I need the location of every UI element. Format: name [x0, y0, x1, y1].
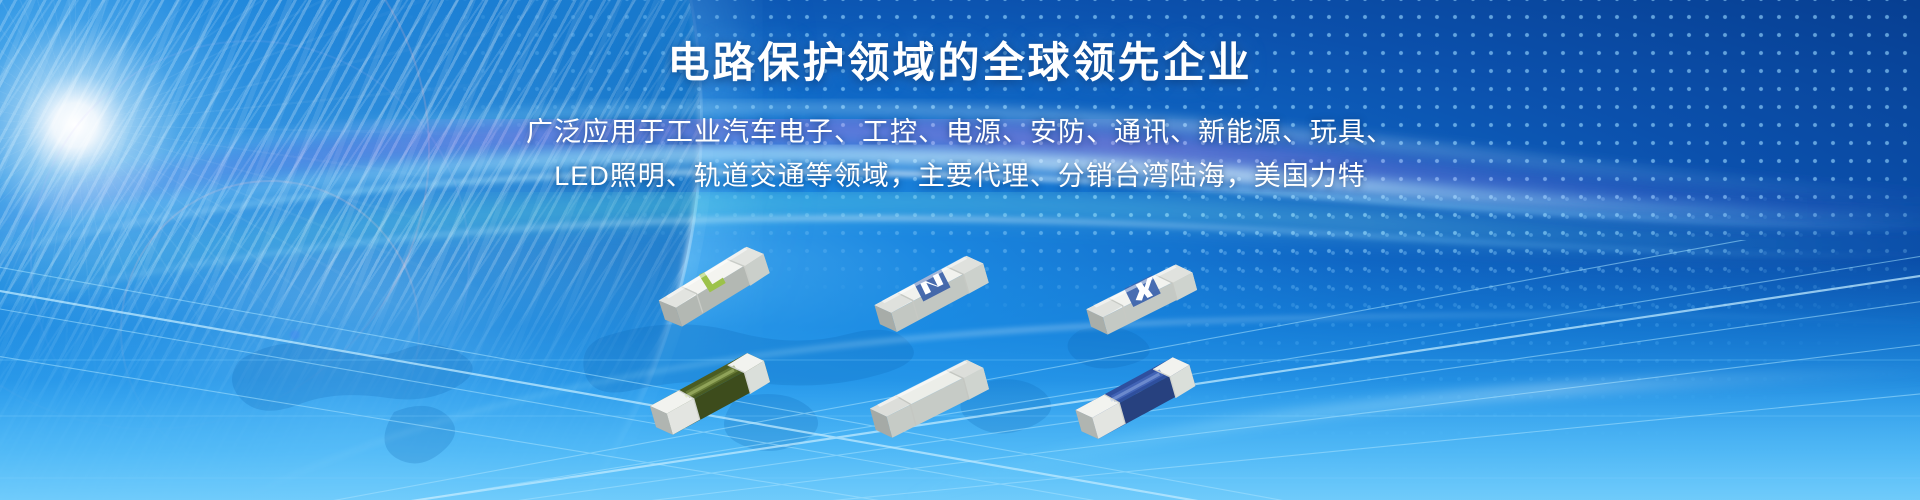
hero-banner: 电路保护领域的全球领先企业 广泛应用于工业汽车电子、工控、电源、安防、通讯、新能…	[0, 0, 1920, 500]
subtitle-line-2: LED照明、轨道交通等领域，主要代理、分销台湾陆海，美国力特	[0, 154, 1920, 199]
subtitle-line-1: 广泛应用于工业汽车电子、工控、电源、安防、通讯、新能源、玩具、	[0, 110, 1920, 155]
banner-subtitle: 广泛应用于工业汽车电子、工控、电源、安防、通讯、新能源、玩具、 LED照明、轨道…	[0, 110, 1920, 199]
product-fuse-4[interactable]	[640, 342, 790, 467]
product-fuse-5[interactable]	[862, 348, 1007, 468]
product-fuse-2[interactable]	[866, 240, 1006, 365]
product-fuse-1[interactable]	[648, 230, 788, 360]
page-title: 电路保护领域的全球领先企业	[0, 38, 1920, 88]
banner-text-block: 电路保护领域的全球领先企业 广泛应用于工业汽车电子、工控、电源、安防、通讯、新能…	[0, 38, 1920, 199]
product-fuse-6[interactable]	[1066, 348, 1216, 473]
